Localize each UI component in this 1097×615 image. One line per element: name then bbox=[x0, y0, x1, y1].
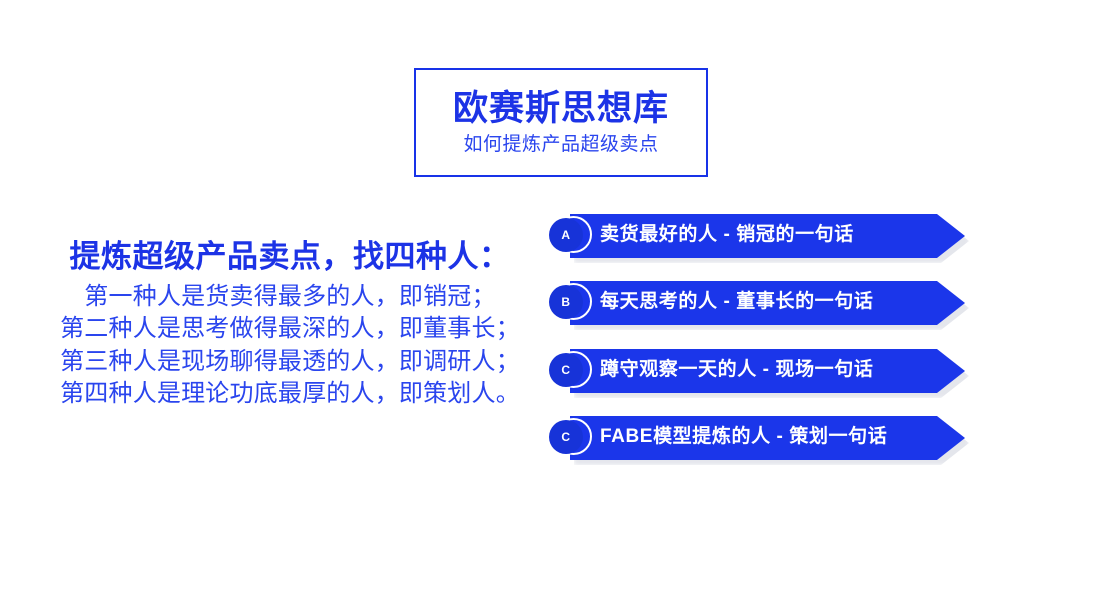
arrow-banner[interactable]: 每天思考的人 - 董事长的一句话 B bbox=[548, 277, 978, 329]
title-box: 欧赛斯思想库 如何提炼产品超级卖点 bbox=[414, 68, 708, 177]
left-line-list: 第一种人是货卖得最多的人，即销冠； 第二种人是思考做得最深的人，即董事长； 第三… bbox=[40, 281, 540, 411]
badge-disc: C bbox=[549, 353, 583, 387]
left-text-block: 提炼超级产品卖点，找四种人： 第一种人是货卖得最多的人，即销冠； 第二种人是思考… bbox=[40, 238, 540, 410]
arrow-label: 每天思考的人 - 董事长的一句话 bbox=[600, 277, 874, 321]
arrow-label: 蹲守观察一天的人 - 现场一句话 bbox=[600, 345, 874, 389]
slide-canvas: 欧赛斯思想库 如何提炼产品超级卖点 提炼超级产品卖点，找四种人： 第一种人是货卖… bbox=[0, 0, 1097, 615]
left-line: 第三种人是现场聊得最透的人，即调研人； bbox=[40, 346, 540, 378]
left-line: 第四种人是理论功底最厚的人，即策划人。 bbox=[40, 378, 540, 410]
left-line: 第一种人是货卖得最多的人，即销冠； bbox=[40, 281, 540, 313]
arrow-banner[interactable]: 蹲守观察一天的人 - 现场一句话 C bbox=[548, 345, 978, 397]
arrow-banner[interactable]: FABE模型提炼的人 - 策划一句话 C bbox=[548, 412, 978, 464]
badge-circle-icon: C bbox=[548, 350, 590, 392]
badge-circle-icon: B bbox=[548, 282, 590, 324]
badge-letter: B bbox=[561, 296, 570, 308]
left-heading: 提炼超级产品卖点，找四种人： bbox=[40, 238, 540, 277]
badge-letter: A bbox=[561, 229, 570, 241]
badge-disc: B bbox=[549, 285, 583, 319]
badge-disc: C bbox=[549, 420, 583, 454]
arrow-label: 卖货最好的人 - 销冠的一句话 bbox=[600, 210, 854, 254]
arrow-banner[interactable]: 卖货最好的人 - 销冠的一句话 A bbox=[548, 210, 978, 262]
badge-circle-icon: C bbox=[548, 417, 590, 459]
badge-letter: C bbox=[561, 431, 570, 443]
page-subtitle: 如何提炼产品超级卖点 bbox=[463, 134, 658, 157]
badge-letter: C bbox=[561, 364, 570, 376]
page-title: 欧赛斯思想库 bbox=[453, 89, 669, 128]
badge-disc: A bbox=[549, 218, 583, 252]
left-line: 第二种人是思考做得最深的人，即董事长； bbox=[40, 313, 540, 345]
badge-circle-icon: A bbox=[548, 215, 590, 257]
arrow-label: FABE模型提炼的人 - 策划一句话 bbox=[600, 412, 887, 456]
arrow-banner-list: 卖货最好的人 - 销冠的一句话 A 每天思考的人 - 董事长的一句话 B bbox=[548, 210, 978, 480]
